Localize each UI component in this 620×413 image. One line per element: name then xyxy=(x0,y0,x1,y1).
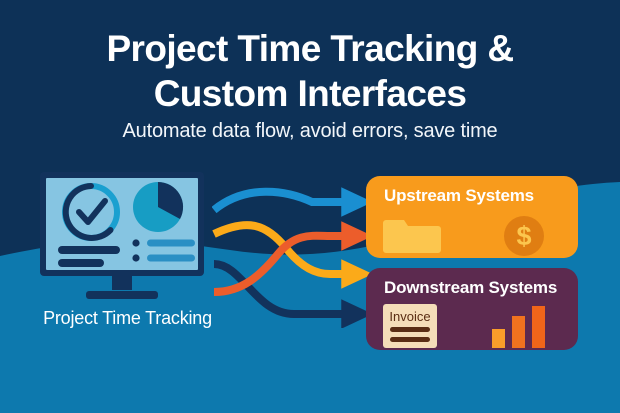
title-line-1: Project Time Tracking & xyxy=(106,28,513,69)
arrow-red-orange xyxy=(214,236,352,292)
page-title: Project Time Tracking & Custom Interface… xyxy=(0,26,620,116)
infographic-canvas: Project Time Tracking & Custom Interface… xyxy=(0,0,620,413)
bar-chart-icon xyxy=(492,306,545,348)
card-downstream-title: Downstream Systems xyxy=(384,278,557,298)
arrow-blue xyxy=(214,192,352,210)
page-subtitle: Automate data flow, avoid errors, save t… xyxy=(0,120,620,143)
folder-icon xyxy=(383,220,441,253)
dollar-coin-icon: $ xyxy=(504,216,544,256)
monitor-stand-neck xyxy=(112,276,132,290)
invoice-document-icon: Invoice xyxy=(383,304,437,348)
title-line-2: Custom Interfaces xyxy=(0,71,620,116)
monitor-caption: Project Time Tracking xyxy=(20,308,235,329)
monitor-stand-base xyxy=(86,291,158,299)
card-downstream-systems[interactable]: Downstream Systems Invoice xyxy=(366,268,578,350)
data-flow-arrows xyxy=(212,178,372,328)
pie-chart-icon xyxy=(133,182,183,232)
dollar-coin-label: $ xyxy=(516,221,531,251)
card-upstream-systems[interactable]: Upstream Systems $ xyxy=(366,176,578,258)
project-time-tracking-illustration xyxy=(38,170,213,290)
card-upstream-title: Upstream Systems xyxy=(384,186,534,206)
invoice-label: Invoice xyxy=(389,309,430,324)
